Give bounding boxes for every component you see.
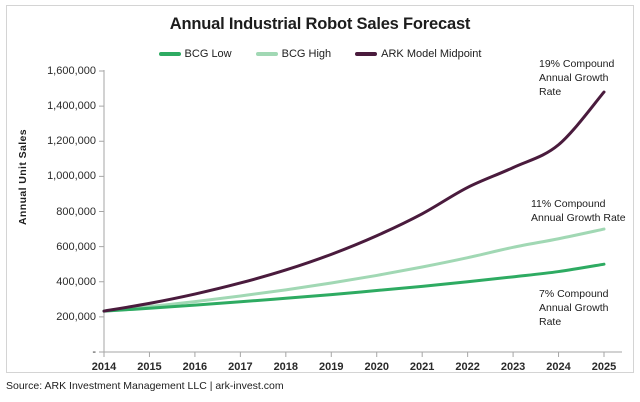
annotation-bcg-high-cagr: 11% Compound Annual Growth Rate [531,198,635,226]
chart-container: Annual Industrial Robot Sales Forecast B… [6,5,634,373]
annotation-bcg-low-cagr: 7% Compound Annual Growth Rate [539,288,629,330]
plot-area: Annual Unit Sales -200,000400,000600,000… [7,6,635,374]
annotation-ark-cagr: 19% Compound Annual Growth Rate [539,58,631,100]
chart-screenshot: Annual Industrial Robot Sales Forecast B… [0,0,640,402]
source-footer: Source: ARK Investment Management LLC | … [6,380,284,392]
